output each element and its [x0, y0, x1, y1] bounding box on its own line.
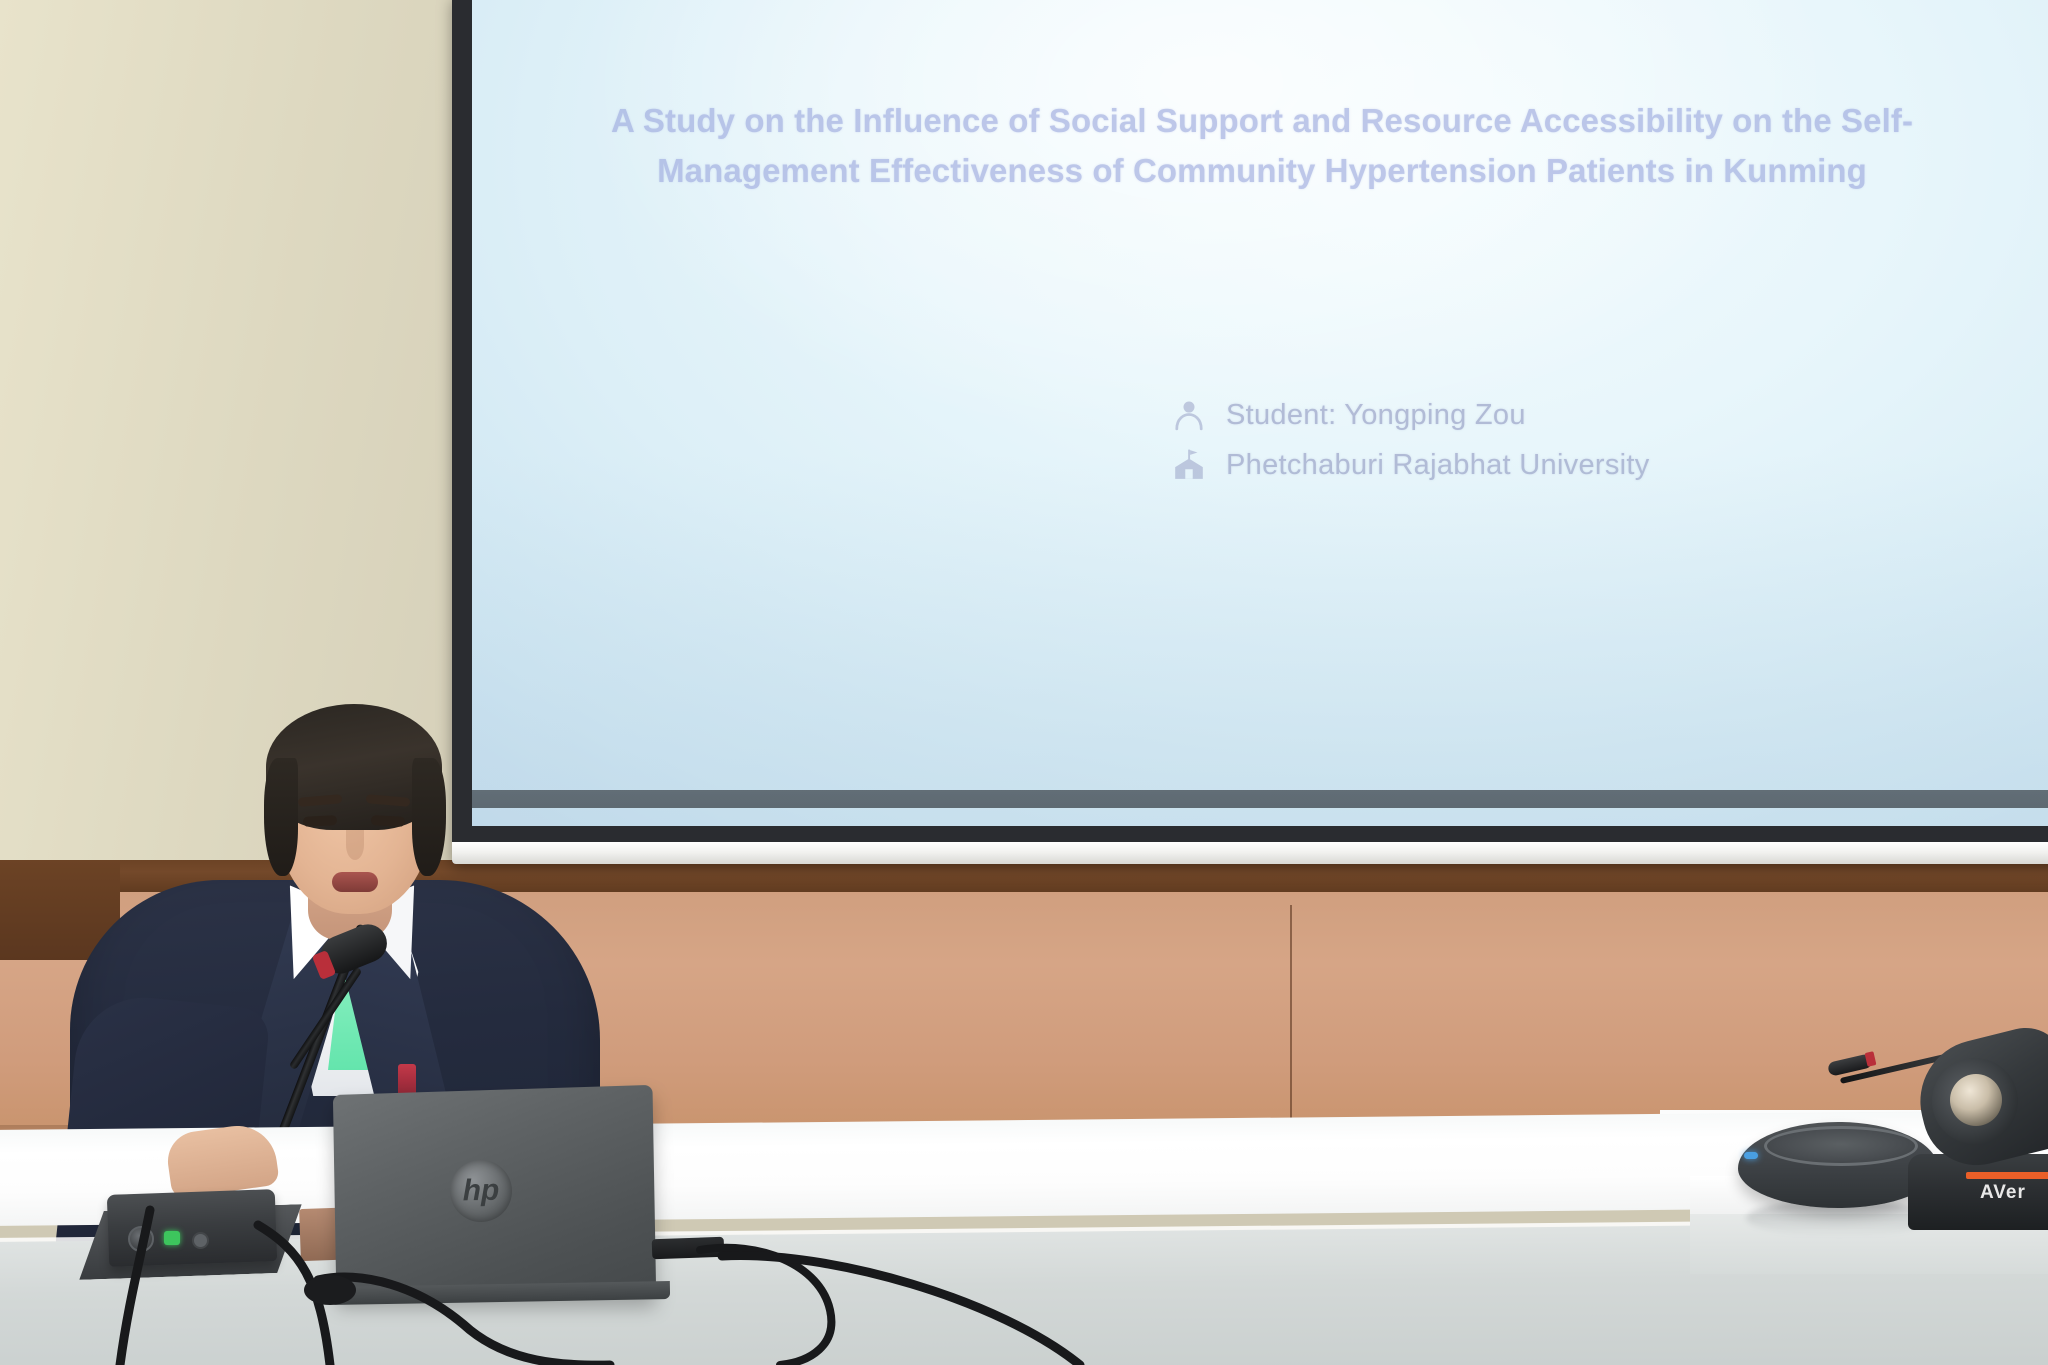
slide-title: A Study on the Influence of Social Suppo… — [532, 96, 1992, 196]
presenter-eye-left — [303, 815, 337, 827]
slide-meta-row-student: Student: Yongping Zou — [1172, 398, 1650, 432]
slide-title-line-1: A Study on the Influence of Social Suppo… — [611, 102, 1913, 139]
slide-meta-block: Student: Yongping Zou Phetchaburi Rajabh… — [1172, 398, 1650, 482]
slide-meta-university-label: Phetchaburi Rajabhat University — [1226, 449, 1650, 482]
speakerphone-speaker-grille — [1764, 1126, 1918, 1166]
desk-cable-loop — [318, 1277, 610, 1365]
projection-screen-surface: A Study on the Influence of Social Suppo… — [472, 0, 2048, 826]
building-icon — [1172, 448, 1206, 482]
mic-power-cable — [120, 1210, 150, 1365]
presenter-nose — [346, 830, 364, 860]
ptz-camera-brand-label: AVer — [1980, 1182, 2026, 1204]
slide-meta-row-university: Phetchaburi Rajabhat University — [1172, 448, 1650, 482]
presentation-slide: A Study on the Influence of Social Suppo… — [472, 0, 2048, 826]
slide-meta-student-label: Student: Yongping Zou — [1226, 399, 1526, 432]
screen-bottom-lip — [472, 790, 2048, 808]
presenter-mouth — [332, 872, 378, 892]
slide-title-line-2: Management Effectiveness of Community Hy… — [657, 152, 1867, 189]
screen-roller-bar — [452, 842, 2048, 864]
presenter-hair-left — [264, 758, 298, 876]
speakerphone-status-led — [1744, 1152, 1758, 1159]
ptz-camera-accent-stripe — [1966, 1172, 2048, 1179]
ptz-camera-lens-glass — [1950, 1074, 2002, 1126]
presenter-hair-right — [412, 758, 446, 876]
wall-panel-seam — [1290, 905, 1292, 1135]
presenter-eye-right — [371, 815, 405, 827]
cable-clip — [304, 1275, 356, 1305]
person-icon — [1172, 398, 1206, 432]
projection-screen: A Study on the Influence of Social Suppo… — [452, 0, 2048, 862]
photo-scene: A Study on the Influence of Social Suppo… — [0, 0, 2048, 1365]
ptz-camera-base — [1908, 1154, 2048, 1230]
laptop-cable — [722, 1256, 1080, 1365]
